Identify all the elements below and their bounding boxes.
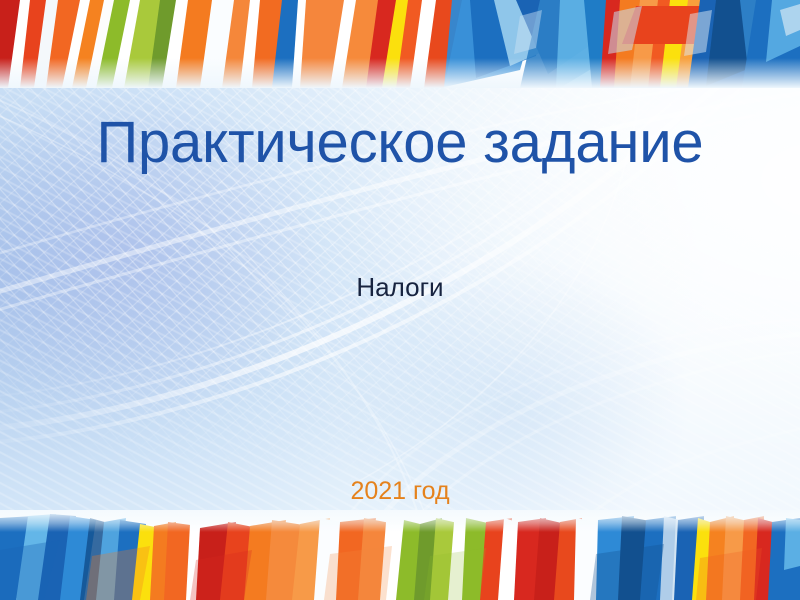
- slide-title: Практическое задание: [0, 112, 800, 175]
- presentation-slide: Практическое задание Налоги 2021 год: [0, 0, 800, 600]
- slide-year: 2021 год: [0, 477, 800, 506]
- slide-subtitle: Налоги: [0, 272, 800, 303]
- decorative-prism-band-top: [0, 0, 800, 88]
- decorative-prism-band-bottom: [0, 510, 800, 600]
